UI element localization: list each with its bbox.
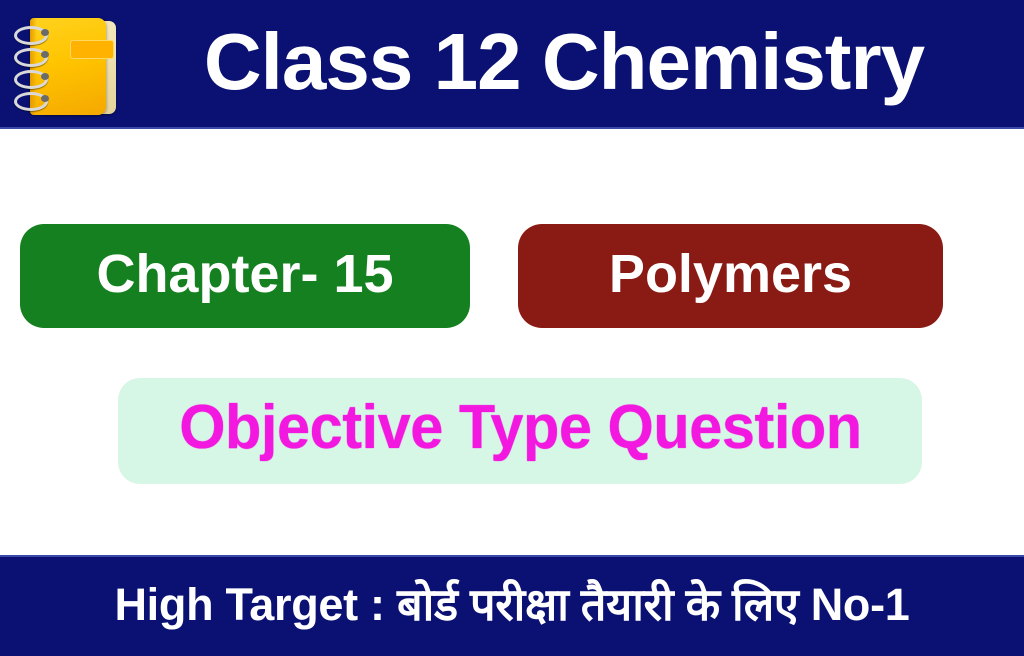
spiral-ring	[14, 26, 48, 45]
spiral-ring	[14, 92, 48, 111]
footer-tagline: High Target : बोर्ड परीक्षा तैयारी के लि…	[114, 581, 909, 632]
objective-banner: Objective Type Question	[118, 378, 922, 484]
notebook-icon	[6, 9, 118, 121]
header-bar: Class 12 Chemistry	[0, 0, 1024, 129]
spiral-ring	[14, 48, 48, 67]
notebook-label-patch	[70, 40, 114, 59]
footer-bar: High Target : बोर्ड परीक्षा तैयारी के लि…	[0, 555, 1024, 656]
objective-banner-label: Objective Type Question	[179, 397, 861, 459]
notebook-spiral-rings	[14, 26, 48, 108]
spiral-ring	[14, 70, 48, 89]
topic-badge: Polymers	[518, 224, 943, 328]
badge-row: Chapter- 15 Polymers	[0, 224, 1024, 328]
chapter-badge: Chapter- 15	[20, 224, 470, 328]
page-title: Class 12 Chemistry	[118, 22, 1024, 106]
poster-root: Class 12 Chemistry Chapter- 15 Polymers …	[0, 0, 1024, 656]
content-area: Chapter- 15 Polymers Objective Type Ques…	[0, 129, 1024, 555]
